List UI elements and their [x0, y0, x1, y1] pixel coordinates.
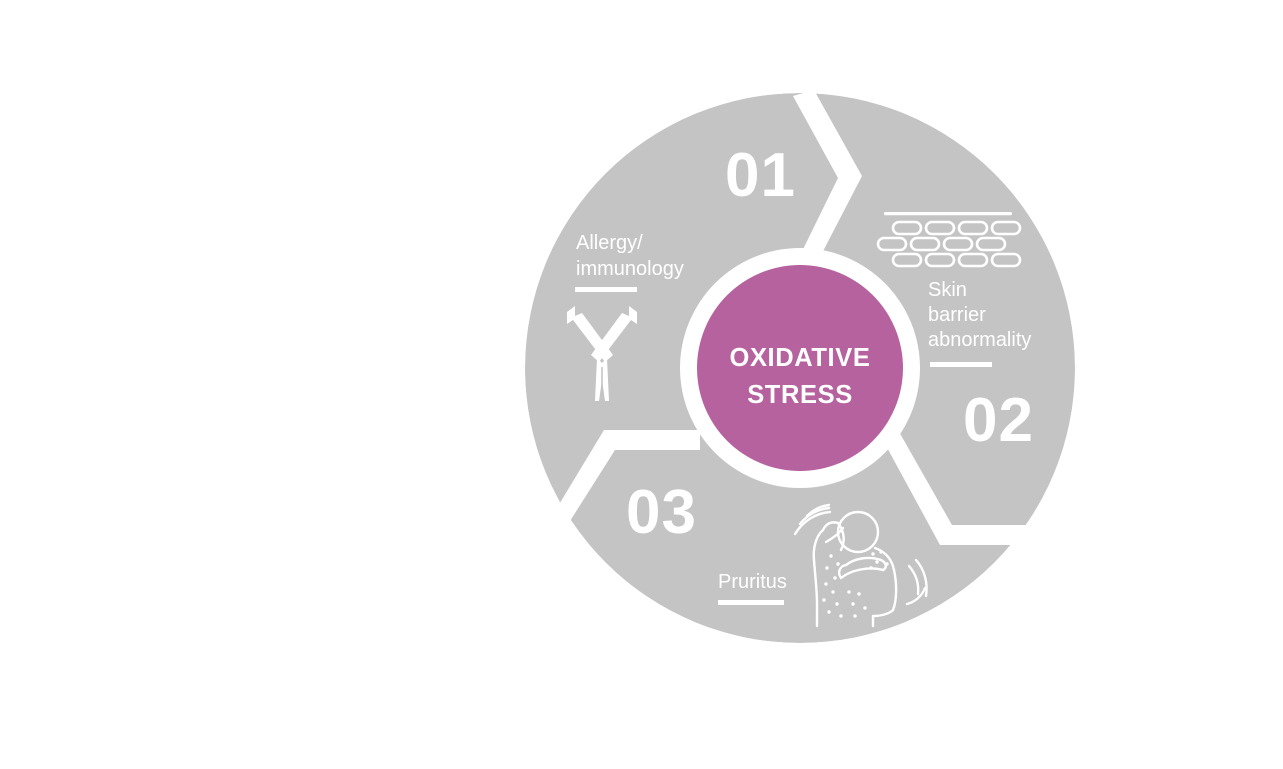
diagram-canvas: 01 Allergy/ immunology 02 Skin b [0, 0, 1283, 769]
segment-02-label-line2: barrier [928, 304, 986, 326]
segment-01-label-line1: Allergy/ [576, 232, 643, 254]
segment-01-number: 01 [725, 141, 796, 210]
segment-02-label-line1: Skin [928, 279, 967, 301]
segment-03-number: 03 [626, 478, 697, 547]
segment-01-label-line2: immunology [576, 258, 684, 280]
segment-01-underline [575, 287, 637, 292]
center-label-line1: OXIDATIVE [730, 344, 871, 372]
center-label-line2: STRESS [747, 381, 853, 409]
segment-03-label-line1: Pruritus [718, 571, 787, 593]
center-hub[interactable]: OXIDATIVE STRESS [688, 256, 912, 480]
segment-02-number: 02 [963, 386, 1034, 455]
segment-02-underline [930, 362, 992, 367]
segment-02-label-line3: abnormality [928, 329, 1031, 351]
segment-03-underline [718, 600, 784, 605]
oxidative-stress-cycle-diagram: 01 Allergy/ immunology 02 Skin b [0, 0, 1283, 769]
